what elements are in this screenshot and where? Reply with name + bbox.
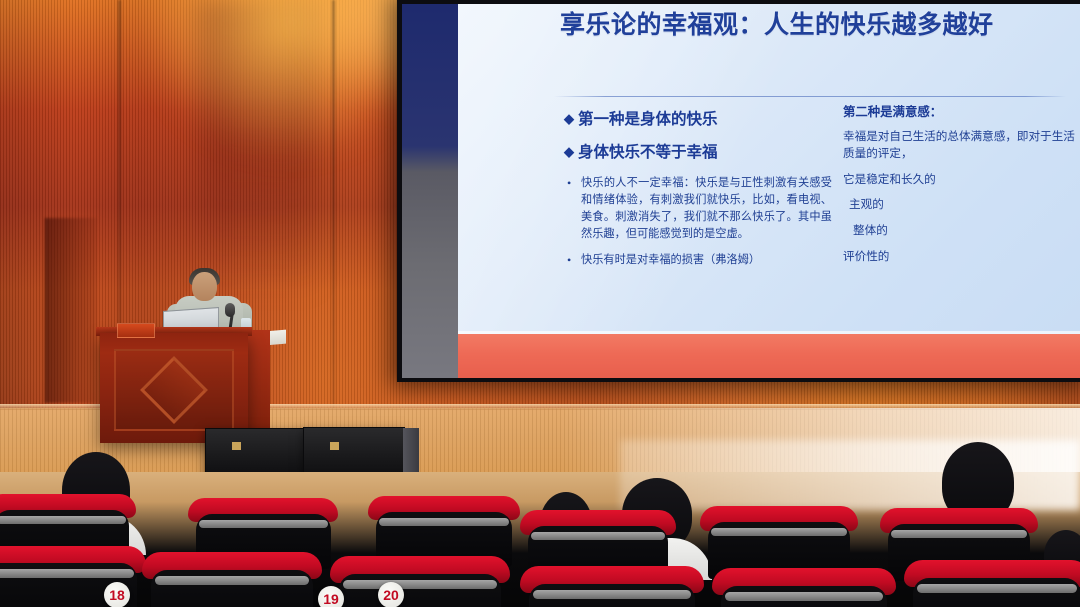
diamond-bullet-icon: ◆ — [564, 142, 574, 162]
seat-bar — [0, 516, 126, 524]
stage-monitor-side — [403, 428, 419, 478]
slide-heading-1: ◆第一种是身体的快乐 — [564, 108, 832, 131]
seat-bar — [531, 532, 665, 540]
auditorium-seat — [904, 560, 1080, 607]
slide-left-column: ◆第一种是身体的快乐 ◆身体快乐不等于幸福 快乐的人不一定幸福：快乐是与正性刺激… — [564, 108, 832, 278]
slide-right-line: 整体的 — [843, 223, 1075, 240]
seat-bar — [155, 576, 310, 585]
slide-right-line: 幸福是对自己生活的总体满意感，即对于生活质量的评定， — [843, 129, 1075, 163]
seat-number-badge: 18 — [104, 582, 130, 607]
seat-bar — [343, 580, 498, 589]
slide-title: 享乐论的幸福观：人生的快乐越多越好 — [560, 10, 1060, 42]
speaker-badge-icon — [330, 442, 339, 450]
microphone-icon — [225, 303, 235, 317]
seat-bar — [199, 520, 328, 528]
seat-bar — [711, 528, 847, 536]
seat-number-badge: 19 — [318, 586, 344, 607]
slide-right-line: 它是稳定和长久的 — [843, 172, 1075, 189]
presentation-slide: 享乐论的幸福观：人生的快乐越多越好 ◆第一种是身体的快乐 ◆身体快乐不等于幸福 … — [458, 4, 1080, 378]
slide-bullet: 快乐的人不一定幸福：快乐是与正性刺激有关感受和情绪体验，有刺激我们就快乐，比如，… — [564, 175, 832, 243]
speaker-badge-icon — [232, 442, 241, 450]
projection-screen: 享乐论的幸福观：人生的快乐越多越好 ◆第一种是身体的快乐 ◆身体快乐不等于幸福 … — [402, 4, 1080, 378]
side-door — [45, 218, 97, 403]
seat-number-badge: 20 — [378, 582, 404, 607]
seat-bar — [917, 584, 1077, 593]
wall-panel-seam — [332, 0, 335, 420]
podium — [100, 333, 248, 443]
auditorium-seat — [142, 552, 322, 607]
slide-right-line: 评价性的 — [843, 249, 1075, 266]
podium-diamond-ornament — [140, 356, 208, 424]
seat-bar — [379, 518, 510, 526]
seat-bar — [725, 592, 883, 601]
slide-right-heading: 第二种是满意感： — [843, 102, 1075, 120]
seat-bar — [533, 590, 691, 599]
seat-bar — [891, 530, 1027, 538]
slide-title-divider — [554, 96, 1066, 97]
podium-front-panel — [114, 349, 234, 431]
podium-sign — [117, 323, 155, 338]
auditorium-seat — [520, 566, 704, 607]
seat-back — [339, 574, 501, 607]
slide-footer-band — [458, 334, 1080, 378]
slide-right-line: 主观的 — [843, 197, 1075, 214]
auditorium-lecture-photo: 享乐论的幸福观：人生的快乐越多越好 ◆第一种是身体的快乐 ◆身体快乐不等于幸福 … — [0, 0, 1080, 607]
diamond-bullet-icon: ◆ — [564, 109, 574, 129]
slide-heading-2: ◆身体快乐不等于幸福 — [564, 141, 832, 164]
auditorium-seat — [330, 556, 510, 607]
screen-unused-band — [402, 4, 458, 378]
slide-right-column: 第二种是满意感： 幸福是对自己生活的总体满意感，即对于生活质量的评定， 它是稳定… — [843, 102, 1075, 275]
slide-bullet: 快乐有时是对幸福的损害（弗洛姆） — [564, 252, 832, 269]
speaker-head — [192, 272, 217, 301]
seat-bar — [0, 569, 134, 578]
auditorium-seat — [712, 568, 896, 607]
